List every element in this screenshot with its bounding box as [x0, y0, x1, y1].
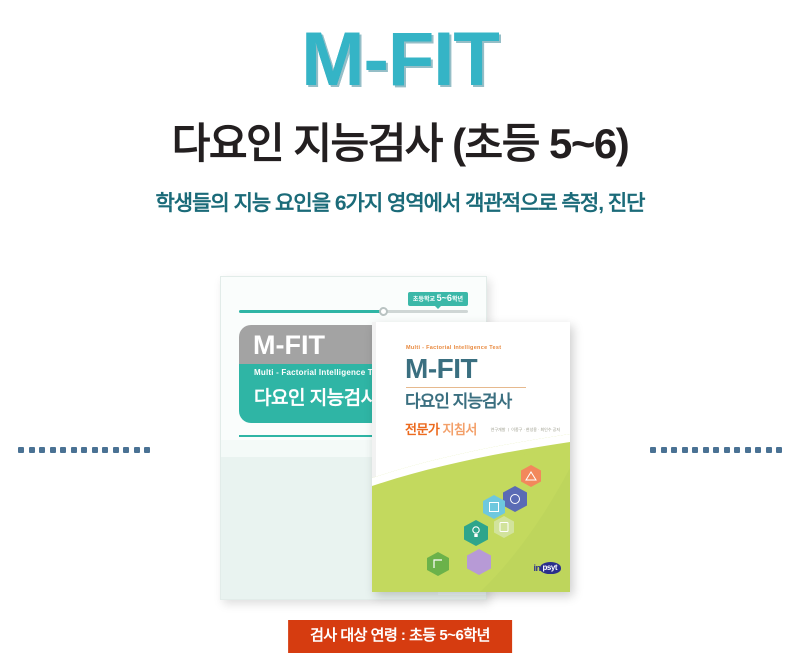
hex-lightgreen	[494, 516, 514, 538]
product-images: 초등학교 5~6학년 M-FIT	[0, 0, 800, 663]
hex-orange	[521, 465, 541, 487]
back-book-logo: M-FIT	[253, 330, 325, 360]
hex-cyan	[483, 495, 505, 519]
book-cover-manual: Multi - Factorial Intelligence Test M-FI…	[372, 322, 570, 592]
back-book-rule-knob	[379, 307, 388, 316]
back-book-subtitle-en: Multi - Factorial Intelligence Test	[254, 367, 384, 379]
grade-badge-suffix: 학년	[452, 297, 463, 303]
publisher-logo-mark: psyt	[540, 562, 561, 574]
hex-purple	[467, 549, 491, 575]
back-book-subtitle-kr: 다요인 지능검사	[254, 385, 378, 413]
hex-teal	[464, 520, 488, 546]
publisher-logo-inpsyt: in psyt	[534, 562, 561, 574]
back-book-top-rule	[239, 310, 468, 313]
hex-indigo	[503, 486, 527, 512]
target-age-badge: 검사 대상 연령 : 초등 5~6학년	[288, 620, 512, 653]
hex-green	[427, 552, 449, 576]
grade-badge-prefix: 초등학교	[413, 297, 437, 303]
grade-badge-grade: 5~6	[437, 293, 452, 303]
front-book-hexagon-group	[372, 322, 570, 592]
grade-badge: 초등학교 5~6학년	[408, 292, 468, 306]
